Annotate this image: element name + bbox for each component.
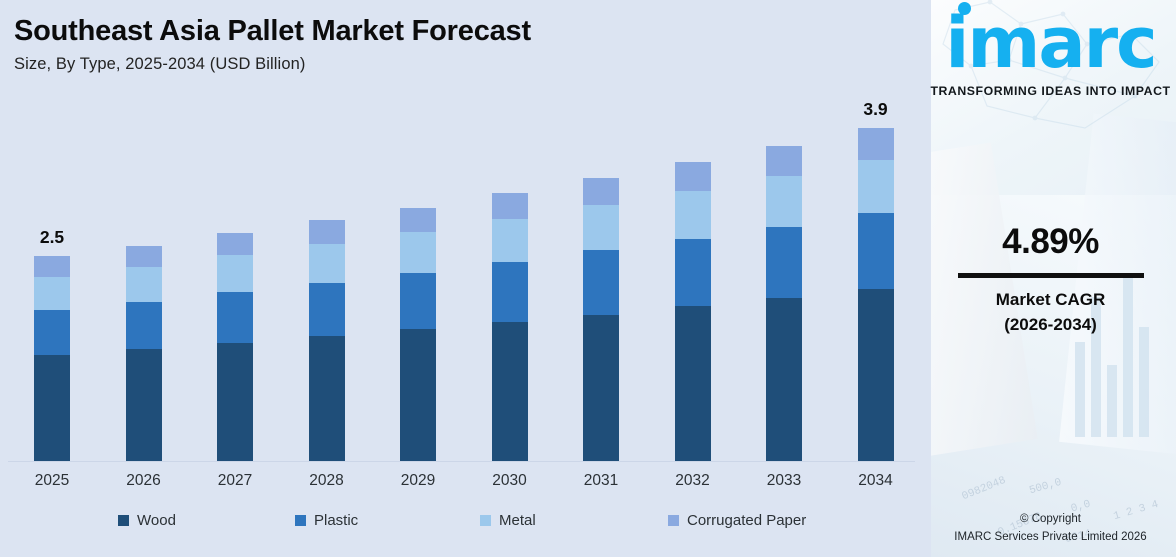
cagr-divider bbox=[958, 273, 1144, 278]
bar-segment-metal[interactable] bbox=[766, 176, 802, 226]
bar-segment-metal[interactable] bbox=[858, 160, 894, 213]
bar-group-2026[interactable] bbox=[126, 246, 162, 462]
stacked-bar[interactable] bbox=[34, 256, 70, 462]
bar-group-2027[interactable] bbox=[217, 233, 253, 462]
bar-segment-plastic[interactable] bbox=[492, 262, 528, 322]
copyright-notice: © Copyright IMARC Services Private Limit… bbox=[925, 511, 1176, 547]
x-axis-tick-2032: 2032 bbox=[675, 472, 709, 490]
stacked-bar[interactable] bbox=[675, 162, 711, 462]
legend-label-wood: Wood bbox=[137, 512, 176, 529]
bar-segment-corrugated-paper[interactable] bbox=[675, 162, 711, 191]
cagr-period: (2026-2034) bbox=[925, 313, 1176, 338]
x-axis-tick-2027: 2027 bbox=[218, 472, 252, 490]
bar-segment-wood[interactable] bbox=[217, 343, 253, 462]
infographic-root: Southeast Asia Pallet Market Forecast Si… bbox=[0, 0, 1176, 557]
legend-label-metal: Metal bbox=[499, 512, 536, 529]
bar-group-2029[interactable] bbox=[400, 208, 436, 462]
bar-group-2031[interactable] bbox=[583, 178, 619, 462]
bar-segment-wood[interactable] bbox=[675, 306, 711, 462]
stacked-bar[interactable] bbox=[583, 178, 619, 462]
bar-group-2033[interactable] bbox=[766, 146, 802, 462]
plot-area: 2.53.9 bbox=[0, 104, 925, 462]
bar-segment-wood[interactable] bbox=[34, 355, 70, 462]
bar-segment-metal[interactable] bbox=[583, 205, 619, 250]
bar-segment-wood[interactable] bbox=[492, 322, 528, 462]
bar-segment-wood[interactable] bbox=[583, 315, 619, 462]
title-block: Southeast Asia Pallet Market Forecast Si… bbox=[14, 16, 531, 74]
stacked-bar[interactable] bbox=[492, 193, 528, 462]
x-axis-tick-2034: 2034 bbox=[858, 472, 892, 490]
bar-segment-plastic[interactable] bbox=[309, 283, 345, 336]
chart-panel: Southeast Asia Pallet Market Forecast Si… bbox=[0, 0, 925, 557]
page-subtitle: Size, By Type, 2025-2034 (USD Billion) bbox=[14, 55, 531, 74]
x-axis-tick-2033: 2033 bbox=[767, 472, 801, 490]
bar-segment-plastic[interactable] bbox=[675, 239, 711, 306]
bar-segment-plastic[interactable] bbox=[400, 273, 436, 330]
bar-group-2028[interactable] bbox=[309, 220, 345, 462]
bar-segment-plastic[interactable] bbox=[858, 213, 894, 290]
bar-segment-metal[interactable] bbox=[309, 244, 345, 283]
logo-mark: imarc bbox=[945, 8, 1155, 82]
bar-segment-plastic[interactable] bbox=[217, 292, 253, 343]
bar-segment-wood[interactable] bbox=[400, 329, 436, 462]
legend-label-plastic: Plastic bbox=[314, 512, 358, 529]
chart-legend: WoodPlasticMetalCorrugated Paper bbox=[0, 512, 925, 552]
bar-segment-corrugated-paper[interactable] bbox=[400, 208, 436, 233]
bar-segment-plastic[interactable] bbox=[766, 227, 802, 299]
legend-swatch-metal bbox=[480, 515, 491, 526]
bar-segment-metal[interactable] bbox=[492, 219, 528, 262]
x-axis-labels: 2025202620272028202920302031203220332034 bbox=[0, 462, 925, 496]
bar-segment-corrugated-paper[interactable] bbox=[309, 220, 345, 244]
bar-segment-wood[interactable] bbox=[126, 349, 162, 462]
stacked-bar[interactable] bbox=[309, 220, 345, 462]
bar-group-2032[interactable] bbox=[675, 162, 711, 462]
bar-segment-plastic[interactable] bbox=[583, 250, 619, 314]
legend-swatch-wood bbox=[118, 515, 129, 526]
bar-group-2034[interactable]: 3.9 bbox=[858, 128, 894, 462]
legend-swatch-plastic bbox=[295, 515, 306, 526]
legend-item-metal[interactable]: Metal bbox=[480, 512, 536, 529]
bar-segment-corrugated-paper[interactable] bbox=[766, 146, 802, 176]
cagr-block: 4.89% Market CAGR (2026-2034) bbox=[925, 222, 1176, 337]
bar-segment-corrugated-paper[interactable] bbox=[858, 128, 894, 160]
stacked-bar[interactable] bbox=[126, 246, 162, 462]
bar-segment-wood[interactable] bbox=[766, 298, 802, 462]
cagr-label: Market CAGR bbox=[925, 288, 1176, 313]
imarc-logo: imarc TRANSFORMING IDEAS INTO IMPACT bbox=[925, 8, 1176, 98]
cagr-value: 4.89% bbox=[925, 222, 1176, 262]
legend-swatch-corrugated-paper bbox=[668, 515, 679, 526]
brand-panel: 500,0 0,0 1 2 3 4 0982048 0.15678 5314 i… bbox=[925, 0, 1176, 557]
legend-label-corrugated-paper: Corrugated Paper bbox=[687, 512, 806, 529]
bar-group-2025[interactable]: 2.5 bbox=[34, 256, 70, 462]
bar-segment-wood[interactable] bbox=[858, 289, 894, 462]
x-axis-tick-2028: 2028 bbox=[309, 472, 343, 490]
bar-segment-corrugated-paper[interactable] bbox=[217, 233, 253, 255]
x-axis-tick-2025: 2025 bbox=[35, 472, 69, 490]
bar-segment-plastic[interactable] bbox=[126, 302, 162, 350]
stacked-bar[interactable] bbox=[858, 128, 894, 462]
copyright-line-1: © Copyright bbox=[925, 511, 1176, 529]
legend-item-corrugated-paper[interactable]: Corrugated Paper bbox=[668, 512, 806, 529]
stacked-bar[interactable] bbox=[217, 233, 253, 462]
bar-segment-corrugated-paper[interactable] bbox=[34, 256, 70, 277]
x-axis-tick-2029: 2029 bbox=[401, 472, 435, 490]
page-title: Southeast Asia Pallet Market Forecast bbox=[14, 16, 531, 48]
x-axis-tick-2026: 2026 bbox=[126, 472, 160, 490]
legend-item-plastic[interactable]: Plastic bbox=[295, 512, 358, 529]
bar-group-2030[interactable] bbox=[492, 193, 528, 462]
bar-value-label-2034: 3.9 bbox=[863, 99, 887, 120]
logo-wordmark: imarc bbox=[945, 8, 1155, 78]
bar-segment-wood[interactable] bbox=[309, 336, 345, 462]
bar-segment-metal[interactable] bbox=[126, 267, 162, 302]
bar-segment-corrugated-paper[interactable] bbox=[492, 193, 528, 219]
bar-segment-metal[interactable] bbox=[34, 277, 70, 310]
logo-tagline: TRANSFORMING IDEAS INTO IMPACT bbox=[925, 84, 1176, 98]
x-axis-tick-2030: 2030 bbox=[492, 472, 526, 490]
bar-segment-metal[interactable] bbox=[217, 255, 253, 291]
bar-segment-plastic[interactable] bbox=[34, 310, 70, 355]
bar-segment-metal[interactable] bbox=[675, 191, 711, 239]
bar-segment-corrugated-paper[interactable] bbox=[583, 178, 619, 205]
bars-layer: 2.53.9 bbox=[0, 104, 925, 462]
bar-value-label-2025: 2.5 bbox=[40, 227, 64, 248]
bar-segment-metal[interactable] bbox=[400, 232, 436, 272]
copyright-line-2: IMARC Services Private Limited 2026 bbox=[925, 529, 1176, 547]
bar-segment-corrugated-paper[interactable] bbox=[126, 246, 162, 267]
stacked-bar[interactable] bbox=[400, 208, 436, 462]
legend-item-wood[interactable]: Wood bbox=[118, 512, 176, 529]
x-axis-tick-2031: 2031 bbox=[584, 472, 618, 490]
stacked-bar[interactable] bbox=[766, 146, 802, 462]
